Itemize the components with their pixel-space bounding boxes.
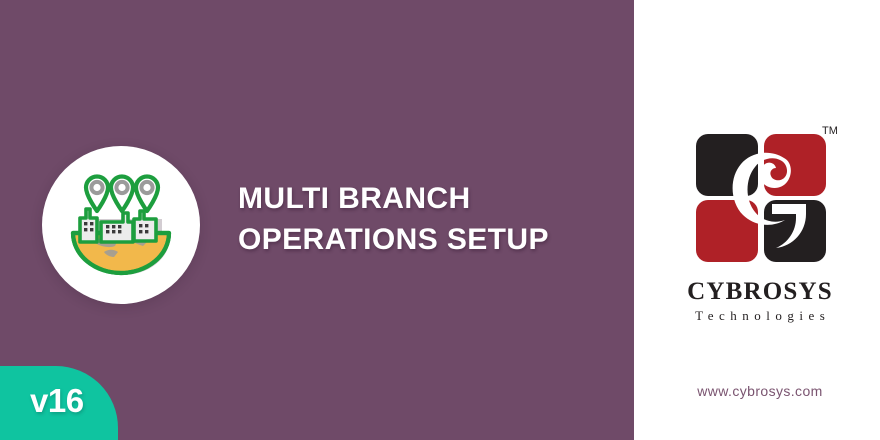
brand-name: CYBROSYS xyxy=(640,278,880,306)
multi-branch-globe-icon xyxy=(42,146,200,304)
brand-subtitle: Technologies xyxy=(640,308,880,324)
right-white-panel: TM CYBROSYS Technologies www.cybrosys.co… xyxy=(640,0,880,440)
version-label: v16 xyxy=(30,382,84,420)
title-line-2: OPERATIONS SETUP xyxy=(238,219,618,260)
promo-banner: MULTI BRANCH OPERATIONS SETUP v16 TM CYB… xyxy=(0,0,880,440)
left-purple-panel: MULTI BRANCH OPERATIONS SETUP v16 xyxy=(0,0,634,440)
website-url[interactable]: www.cybrosys.com xyxy=(640,383,880,399)
trademark-label: TM xyxy=(822,125,838,137)
cybrosys-logo-icon: TM xyxy=(688,118,840,270)
title-line-1: MULTI BRANCH xyxy=(238,178,618,219)
page-title: MULTI BRANCH OPERATIONS SETUP xyxy=(238,178,618,260)
